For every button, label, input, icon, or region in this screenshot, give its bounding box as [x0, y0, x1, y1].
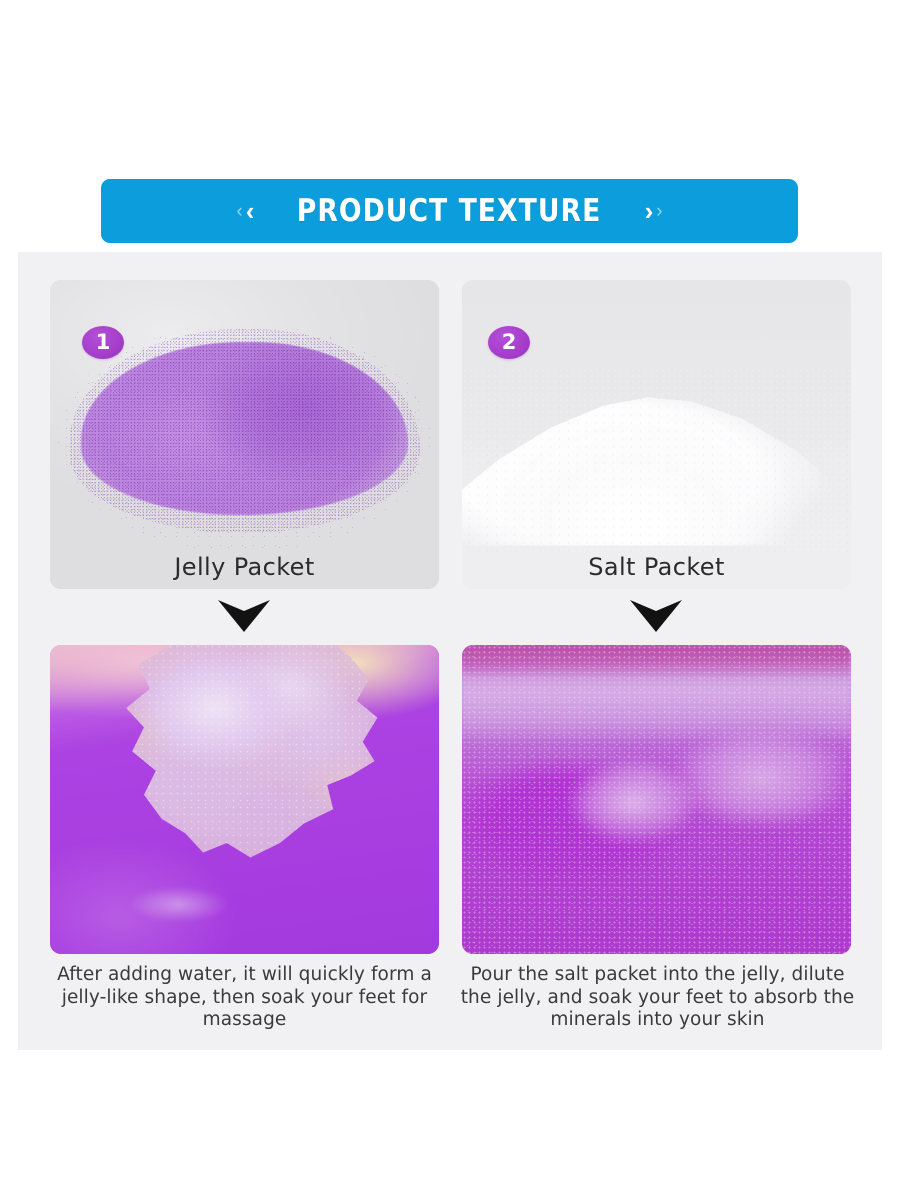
jelly-powder-scatter [58, 323, 431, 552]
step-badge-1-number: 1 [96, 332, 111, 353]
step-badge-2: 2 [488, 326, 530, 359]
chevron-left-outer-icon: ‹ [236, 202, 242, 221]
step-badge-2-number: 2 [502, 332, 517, 353]
jelly-formed-photo [50, 645, 439, 954]
header-right-chevrons: › › [645, 198, 663, 224]
foam-bath-bubbles [462, 645, 851, 954]
foam-bath-caption: Pour the salt packet into the jelly, dil… [455, 964, 860, 1032]
page-title: PRODUCT TEXTURE [297, 193, 602, 229]
header-inner: ‹ ‹ PRODUCT TEXTURE › › [236, 193, 662, 229]
chevron-right-outer-icon: › [656, 202, 662, 221]
chevron-right-inner-icon: › [645, 198, 654, 224]
salt-powder-granules [462, 367, 851, 552]
chevron-left-inner-icon: ‹ [246, 198, 255, 224]
header-left-chevrons: ‹ ‹ [236, 198, 254, 224]
down-arrow-icon-left [218, 600, 270, 632]
section-header-banner: ‹ ‹ PRODUCT TEXTURE › › [101, 179, 798, 243]
salt-powder-photo [462, 280, 851, 589]
jelly-formed-drip [112, 880, 244, 929]
step-badge-1: 1 [82, 326, 124, 359]
product-texture-infographic: ‹ ‹ PRODUCT TEXTURE › › 1 2 Jelly Packet… [0, 0, 900, 1200]
jelly-formed-caption: After adding water, it will quickly form… [42, 964, 447, 1032]
foam-bath-photo [462, 645, 851, 954]
down-arrow-icon-right [630, 600, 682, 632]
jelly-packet-label: Jelly Packet [50, 553, 439, 581]
salt-packet-label: Salt Packet [462, 553, 851, 581]
